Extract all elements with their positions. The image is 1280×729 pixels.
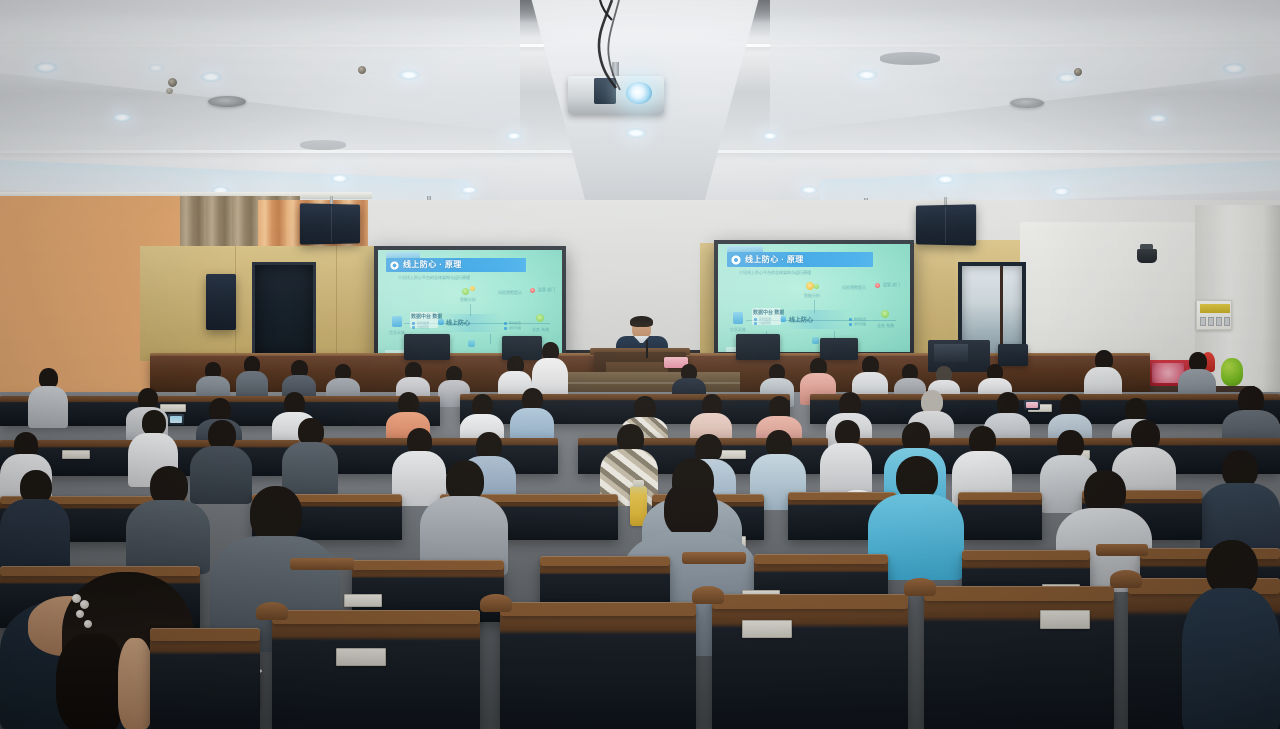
audience-member <box>282 418 338 494</box>
sprinkler-head <box>168 78 177 87</box>
diagram-node-label: 信息采集 <box>730 327 746 333</box>
bench-rail <box>272 610 480 624</box>
diagram-node-label: 业务 系统 <box>532 327 549 333</box>
diagram-source-icon <box>733 312 743 324</box>
diagram-source-icon <box>392 316 402 327</box>
bench-armrest <box>480 594 512 612</box>
audience-member <box>126 466 210 570</box>
smoke-detector <box>208 96 246 107</box>
diagram-node-label: 风险预警提示 <box>498 290 522 296</box>
bench-armrest <box>1110 570 1142 588</box>
wall-sign <box>1196 300 1232 330</box>
audience-member <box>0 470 70 570</box>
downlight <box>1148 114 1168 123</box>
wall-sign-band <box>1200 304 1230 313</box>
auditorium-photo: 线上防心 · 原理 介绍线上防心平台的总体架构与运行原理 线上防心 信息采集 数… <box>0 0 1280 729</box>
sprinkler-head <box>1074 68 1082 76</box>
bench-rail <box>540 556 670 566</box>
downlight <box>1052 187 1071 196</box>
diagram-node-label: 监管 部门 <box>883 282 900 288</box>
downlight <box>856 70 878 80</box>
stage-equipment-box <box>404 334 450 360</box>
diagram-analysis-icon-2 <box>470 286 475 291</box>
downlight <box>1222 63 1246 74</box>
bench-armrest <box>290 558 354 570</box>
downlight <box>460 186 478 194</box>
sprinkler-head <box>358 66 366 74</box>
seat-plaque <box>742 620 792 638</box>
downlight <box>148 64 164 72</box>
equipment-cart-monitor <box>934 344 968 362</box>
diagram-bullet: 联动处置 <box>509 321 521 325</box>
bench-armrest <box>1096 544 1148 556</box>
slide-titlebar: 线上防心 · 原理 <box>386 258 526 272</box>
downlight <box>34 62 58 73</box>
bench-rail <box>924 586 1114 601</box>
seat-plaque <box>62 450 90 459</box>
bench-row-5 <box>150 634 260 729</box>
diagram-bullet: 联动处置 <box>854 317 866 321</box>
decor-green-bottle <box>1221 358 1243 386</box>
diagram-analysis-icon <box>806 282 814 290</box>
gear-icon <box>731 255 741 265</box>
bench-rail <box>150 628 260 641</box>
audience-member <box>236 356 268 400</box>
seat-plaque <box>344 594 382 607</box>
ceiling-vent <box>300 140 346 150</box>
downlight <box>330 174 349 183</box>
slide-titlebar: 线上防心 · 原理 <box>727 252 873 267</box>
diagram-node-label: 智能分析 <box>804 293 820 299</box>
diagram-node-label: 风险预警提示 <box>842 285 866 291</box>
door-left[interactable] <box>252 262 316 362</box>
audience-member <box>28 368 68 426</box>
microphone-stand <box>646 340 648 358</box>
bench-rail <box>962 550 1090 560</box>
slide-subtitle: 介绍线上防心平台的总体架构与运行原理 <box>739 270 875 276</box>
diagram-node-label: 数据中台 数据 <box>411 313 442 320</box>
stage-equipment-box <box>998 344 1028 366</box>
diagram-bullet: 分级预警 <box>759 321 771 325</box>
slide-subtitle: 介绍线上防心平台的总体架构与运行原理 <box>398 275 528 281</box>
downlight <box>625 128 647 138</box>
bench-rail <box>500 602 696 616</box>
downlight <box>506 132 522 140</box>
audience-member <box>420 460 508 572</box>
sprinkler-head <box>166 88 173 94</box>
diagram-bullet: 闭环管理 <box>509 326 521 330</box>
presenter-hair <box>630 316 653 327</box>
diagram-node-label: 信息采集 <box>389 330 405 336</box>
diagram-analysis-icon <box>462 288 469 295</box>
diagram-node-label: 智能分析 <box>460 297 476 303</box>
diagram-bullet: 分级预警 <box>417 325 429 329</box>
diagram-node-label: 业务 系统 <box>877 323 894 329</box>
diagram-node-label: 监管 部门 <box>538 287 555 293</box>
downlight <box>936 175 955 184</box>
ceiling-cable <box>592 0 632 26</box>
diagram-bullet: 闭环管理 <box>854 322 866 326</box>
bench-rail <box>754 554 888 564</box>
audience-member <box>820 420 872 498</box>
downlight <box>800 186 818 194</box>
downlight <box>112 113 132 122</box>
bench-rail <box>712 594 908 609</box>
diagram-center-label: 线上防心 <box>789 315 813 324</box>
downlight <box>200 72 222 82</box>
seat-plaque <box>1040 610 1090 629</box>
smoke-detector <box>1010 98 1044 108</box>
bench-armrest <box>904 578 936 596</box>
diagram-node-label: 数据中台 数据 <box>753 309 784 316</box>
diagram-analysis-icon-2 <box>814 284 819 289</box>
bench-rail <box>958 492 1042 500</box>
bench-armrest <box>256 602 288 620</box>
audience-member <box>1200 450 1280 550</box>
bench-armrest <box>692 586 724 604</box>
bench-row-3 <box>958 496 1042 540</box>
slide-title: 线上防心 · 原理 <box>745 252 804 267</box>
phone[interactable] <box>1024 400 1040 410</box>
wall-speaker-left-low <box>206 274 236 330</box>
audience-member-foreground <box>1182 540 1280 729</box>
wall-speaker-left <box>300 203 360 244</box>
bench-row-5 <box>500 608 696 729</box>
gear-icon <box>390 261 399 270</box>
seat-plaque <box>336 648 386 666</box>
downlight <box>398 70 420 80</box>
wall-speaker-right <box>916 204 976 245</box>
stage-equipment-box <box>736 334 780 360</box>
downlight <box>762 132 778 140</box>
security-camera <box>1137 249 1157 263</box>
ceiling-vent <box>880 52 940 65</box>
slide-title: 线上防心 · 原理 <box>403 258 462 272</box>
diagram-center-label: 线上防心 <box>446 318 470 327</box>
bench-rail <box>352 560 504 570</box>
bench-row-5 <box>272 616 480 729</box>
bench-armrest <box>682 552 746 564</box>
